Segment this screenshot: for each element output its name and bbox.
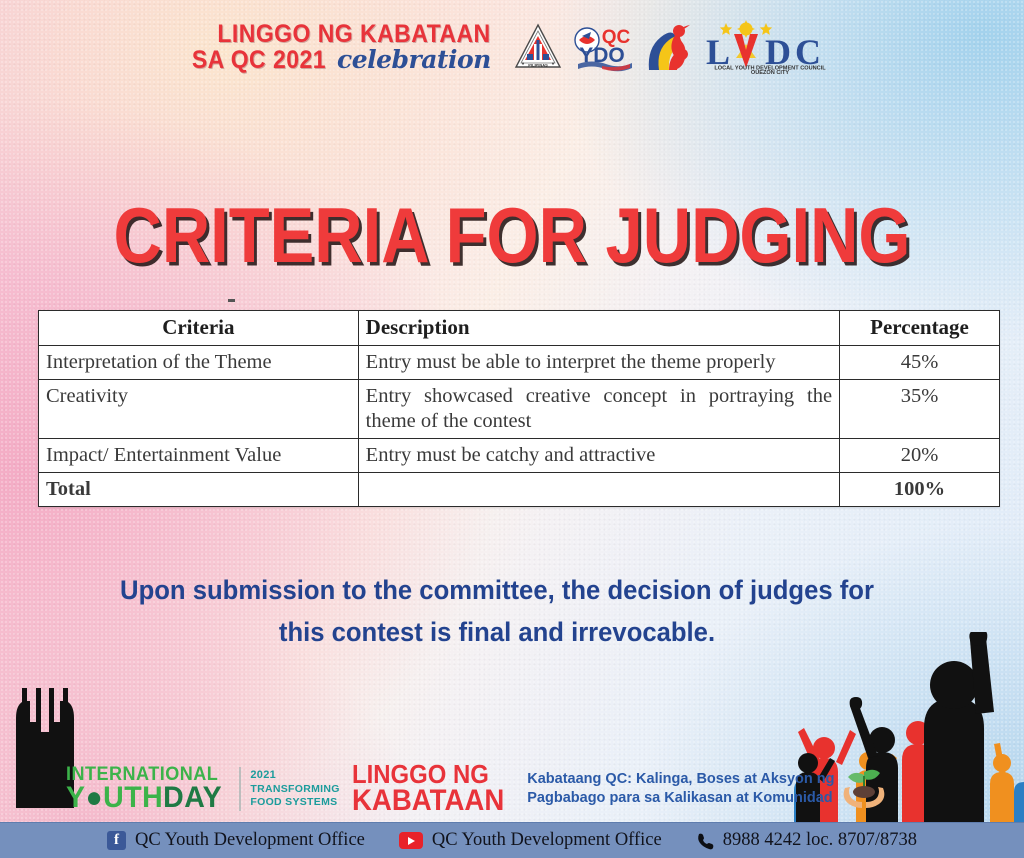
table-header-row: Criteria Description Percentage bbox=[39, 311, 1000, 346]
linggo-ng-kabataan-logo: LINGGO NG KABATAAN bbox=[352, 763, 518, 815]
cell-description: Entry must be able to interpret the them… bbox=[358, 345, 839, 379]
partner-logo-row: PILIPINAS QC YDO bbox=[513, 20, 838, 74]
cell-criteria: Total bbox=[39, 472, 359, 506]
footer-phone[interactable]: 8988 4242 loc. 8707/8738 bbox=[696, 830, 917, 851]
facebook-icon[interactable]: f bbox=[107, 831, 126, 850]
table-row: Interpretation of the Theme Entry must b… bbox=[39, 345, 1000, 379]
event-title-block: LINGGO NG KABATAAN SA QC 2021 celebratio… bbox=[186, 22, 491, 73]
svg-text:PILIPINAS: PILIPINAS bbox=[528, 62, 548, 67]
youtube-label: QC Youth Development Office bbox=[432, 830, 662, 851]
criteria-table: Criteria Description Percentage Interpre… bbox=[38, 310, 1000, 507]
tagline-line2: Pagbabago para sa Kalikasan at Komunidad bbox=[527, 789, 834, 808]
iyd-line2-b: UTH bbox=[103, 781, 163, 814]
cell-description: Entry showcased creative concept in port… bbox=[358, 379, 839, 438]
qc-ydo-logo: QC YDO bbox=[572, 22, 636, 72]
cell-criteria: Interpretation of the Theme bbox=[39, 345, 359, 379]
cell-criteria: Impact/ Entertainment Value bbox=[39, 438, 359, 472]
lnk-line2: KABATAAN bbox=[352, 787, 504, 815]
globe-icon: ● bbox=[85, 781, 103, 814]
cell-description bbox=[358, 472, 839, 506]
food-systems-line2: FOOD SYSTEMS bbox=[250, 796, 339, 809]
food-systems-line1: TRANSFORMING bbox=[250, 783, 339, 796]
food-systems-year: 2021 bbox=[250, 769, 339, 783]
column-header-percentage: Percentage bbox=[840, 311, 1000, 346]
campaign-tagline: Kabataang QC: Kalinga, Boses at Aksyon n… bbox=[527, 770, 834, 808]
lydc-logo: L D C LOCAL YOUTH DEVELOPMENT COUNCIL QU… bbox=[704, 20, 838, 74]
bottom-branding-strip: INTERNATIONAL Y●UTHDAY 2021 TRANSFORMING… bbox=[66, 760, 889, 818]
event-title-line2: SA QC 2021 bbox=[192, 48, 326, 73]
cell-percentage: 45% bbox=[840, 345, 1000, 379]
event-title-line1: LINGGO NG KABATAAN bbox=[211, 22, 491, 47]
svg-text:QUEZON CITY: QUEZON CITY bbox=[751, 70, 789, 74]
event-title-script: celebration bbox=[337, 47, 491, 72]
table-row: Impact/ Entertainment Value Entry must b… bbox=[39, 438, 1000, 472]
food-systems-tag: 2021 TRANSFORMING FOOD SYSTEMS bbox=[250, 769, 339, 809]
footer-bar: f QC Youth Development Office QC Youth D… bbox=[0, 822, 1024, 858]
column-header-description: Description bbox=[358, 311, 839, 346]
judging-note: Upon submission to the committee, the de… bbox=[103, 570, 892, 654]
youtube-icon[interactable] bbox=[399, 832, 423, 849]
cell-percentage: 20% bbox=[840, 438, 1000, 472]
qc-seal-logo: PILIPINAS bbox=[513, 22, 563, 72]
column-header-criteria: Criteria bbox=[39, 311, 359, 346]
phone-label: 8988 4242 loc. 8707/8738 bbox=[723, 830, 917, 851]
facebook-label: QC Youth Development Office bbox=[135, 830, 365, 851]
header-band: LINGGO NG KABATAAN SA QC 2021 celebratio… bbox=[0, 8, 1024, 86]
iyd-line2-c: DAY bbox=[163, 781, 222, 814]
cell-description: Entry must be catchy and attractive bbox=[358, 438, 839, 472]
hands-holding-plant-icon bbox=[839, 766, 889, 812]
table-artifact-mark bbox=[228, 299, 235, 302]
iyd-line2-a: Y bbox=[66, 781, 85, 814]
phone-icon bbox=[696, 832, 714, 850]
table-row: Creativity Entry showcased creative conc… bbox=[39, 379, 1000, 438]
footer-facebook[interactable]: f QC Youth Development Office bbox=[107, 830, 365, 851]
cell-criteria: Creativity bbox=[39, 379, 359, 438]
youth-figure-logo bbox=[645, 21, 695, 73]
page-title: CRITERIA FOR JUDGING bbox=[15, 191, 1008, 280]
tagline-line1: Kabataang QC: Kalinga, Boses at Aksyon n… bbox=[527, 770, 834, 789]
divider bbox=[239, 767, 241, 811]
international-youth-day-logo: INTERNATIONAL Y●UTHDAY bbox=[66, 766, 230, 811]
table-row-total: Total 100% bbox=[39, 472, 1000, 506]
footer-youtube[interactable]: QC Youth Development Office bbox=[399, 830, 662, 851]
cell-percentage: 35% bbox=[840, 379, 1000, 438]
cell-percentage: 100% bbox=[840, 472, 1000, 506]
